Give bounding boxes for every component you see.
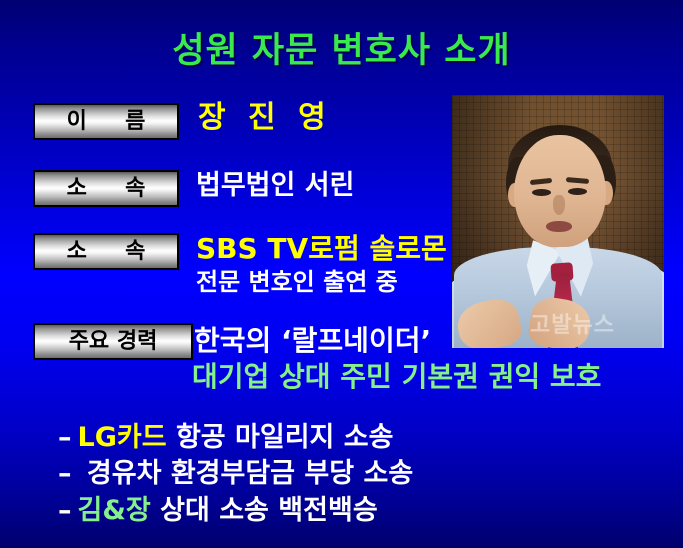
label-chip-media: 소 속 <box>33 233 179 270</box>
bullet-dash: – <box>58 422 72 453</box>
value-career-line1: 한국의 ‘랄프네이더’ <box>194 326 431 355</box>
label-chip-media-text: 소 속 <box>67 241 146 263</box>
bullet-dash: – <box>58 458 72 489</box>
label-chip-firm: 소 속 <box>33 170 179 207</box>
value-career-line2: 대기업 상대 주민 기본권 권익 보호 <box>192 362 601 391</box>
eye-left <box>532 189 551 196</box>
bullet-dash: – <box>58 495 72 526</box>
lawyer-portrait-photo: 고발뉴스 <box>452 95 664 348</box>
photo-watermark: 고발뉴스 <box>530 307 615 339</box>
label-chip-career: 주요 경력 <box>33 323 193 360</box>
label-chip-firm-text: 소 속 <box>67 178 146 200</box>
page-title: 성원 자문 변호사 소개 <box>0 22 683 73</box>
bullet-highlight: LG카드 <box>78 422 167 453</box>
bullet-text: 경유차 환경부담금 부당 소송 <box>78 458 414 489</box>
value-media-line2: 전문 변호인 출연 중 <box>196 270 398 295</box>
value-firm: 법무법인 서린 <box>196 172 354 200</box>
nose <box>553 195 565 215</box>
bullet-text: 상대 소송 백전백승 <box>151 495 378 526</box>
list-item: – 경유차 환경부담금 부당 소송 <box>58 456 518 492</box>
label-chip-career-text: 주요 경력 <box>69 331 158 353</box>
mouth <box>546 221 572 232</box>
value-media-line1: SBS TV로펌 솔로몬 <box>196 234 447 263</box>
presentation-slide: 성원 자문 변호사 소개 고발뉴스 이 름 장 진 영 소 <box>0 0 683 548</box>
bullet-highlight: 김&장 <box>78 495 151 526</box>
list-item: –김&장 상대 소송 백전백승 <box>58 493 518 529</box>
career-bullet-list: –LG카드 항공 마일리지 소송 – 경유차 환경부담금 부당 소송 –김&장 … <box>58 420 518 529</box>
label-chip-name: 이 름 <box>33 103 179 140</box>
list-item: –LG카드 항공 마일리지 소송 <box>58 420 518 456</box>
eye-right <box>568 188 587 195</box>
label-chip-name-text: 이 름 <box>67 111 146 133</box>
value-name: 장 진 영 <box>198 102 332 134</box>
bullet-text: 항공 마일리지 소송 <box>167 422 394 453</box>
